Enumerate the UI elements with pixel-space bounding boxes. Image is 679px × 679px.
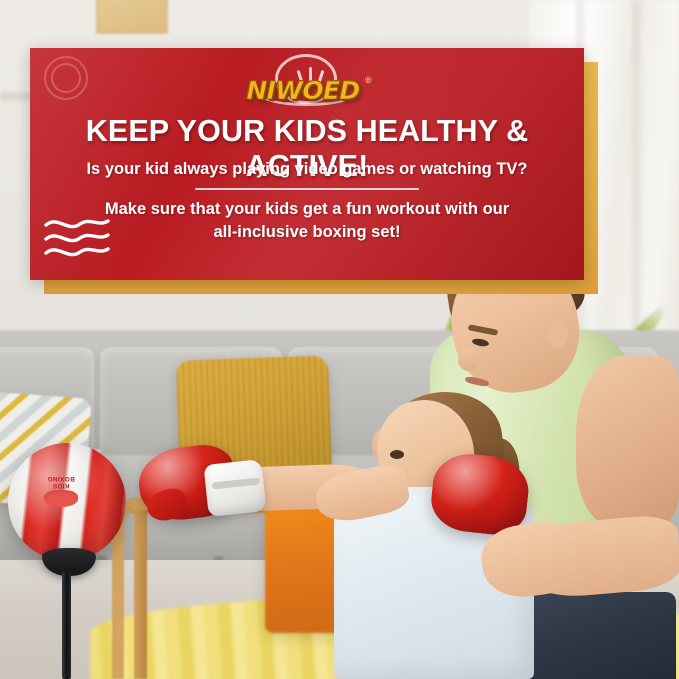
wall-picture-frame <box>96 0 168 34</box>
punching-ball: KIDS BOXING <box>8 443 126 561</box>
heart-icon <box>44 490 78 507</box>
ball-label-line-2: BOXING <box>36 475 86 482</box>
man-shoulder <box>576 356 679 528</box>
promo-banner: NIWOED ® KEEP YOUR KIDS HEALTHY & ACTIVE… <box>30 48 584 280</box>
promo-body-line-2: all-inclusive boxing set! <box>30 221 584 244</box>
side-table-frame <box>112 498 178 679</box>
promo-body: Make sure that your kids get a fun worko… <box>30 198 584 244</box>
girl-eye <box>390 450 404 459</box>
punching-ball-label: KIDS BOXING <box>36 473 86 507</box>
promo-body-line-1: Make sure that your kids get a fun worko… <box>30 198 584 221</box>
registered-trademark-symbol: ® <box>365 75 372 85</box>
brand-name: NIWOED <box>217 76 389 105</box>
punching-ball-pole <box>62 572 71 679</box>
promo-subheadline: Is your kid always playing video games o… <box>30 160 584 179</box>
brand-logo: NIWOED ® <box>30 54 584 110</box>
text-divider <box>195 188 419 190</box>
ball-label-line-1: KIDS <box>36 482 86 489</box>
